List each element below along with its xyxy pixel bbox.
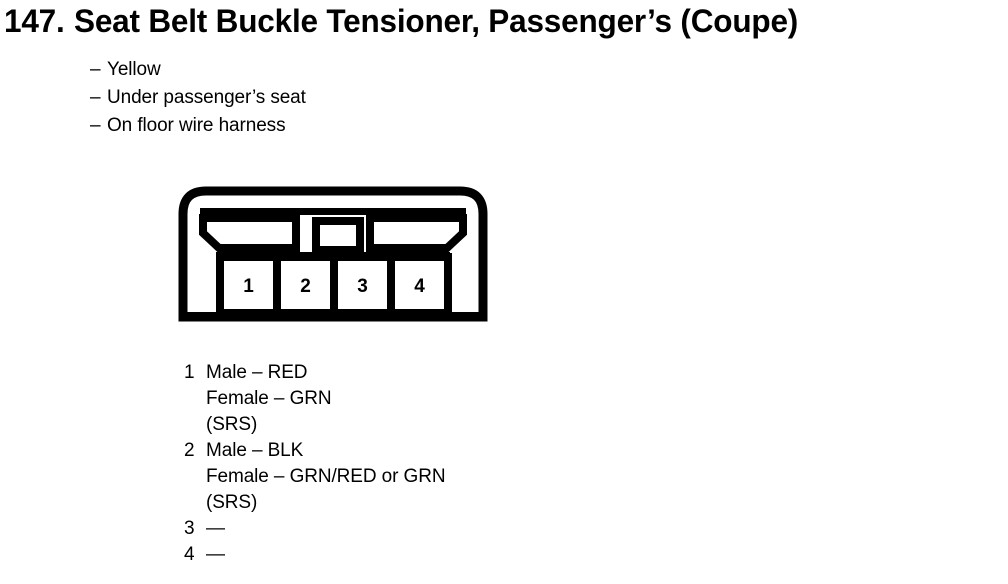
connector-slot-left	[203, 218, 296, 248]
pin-legend-line: (SRS)	[206, 412, 804, 438]
attribute-label: Under passenger’s seat	[107, 84, 306, 112]
pin-number-1: 1	[243, 276, 254, 297]
page-title: 147. Seat Belt Buckle Tensioner, Passeng…	[4, 3, 1004, 43]
list-item: – Yellow	[90, 56, 610, 84]
pin-legend-line: Male – RED	[206, 360, 804, 386]
connector-slot-right	[370, 218, 463, 248]
page-title-number: 147.	[4, 3, 65, 39]
pin-legend-number: 4	[184, 542, 206, 568]
connector-diagram: 1 2 3 4	[178, 186, 498, 326]
pin-legend: 1 Male – RED Female – GRN (SRS) 2 Male –…	[184, 360, 804, 568]
list-item: – On floor wire harness	[90, 112, 610, 140]
pin-legend-description: —	[206, 542, 804, 568]
pin-legend-line: (SRS)	[206, 490, 804, 516]
dash-bullet-icon: –	[90, 112, 107, 140]
pin-legend-entry: 2 Male – BLK Female – GRN/RED or GRN (SR…	[184, 438, 804, 516]
list-item: – Under passenger’s seat	[90, 84, 610, 112]
pin-legend-description: —	[206, 516, 804, 542]
connector-top-bar	[200, 208, 466, 215]
pin-legend-number: 3	[184, 516, 206, 542]
attribute-label: On floor wire harness	[107, 112, 285, 140]
pin-legend-entry: 1 Male – RED Female – GRN (SRS)	[184, 360, 804, 438]
pin-legend-line: —	[206, 542, 804, 568]
pin-legend-number: 1	[184, 360, 206, 386]
connector-bottom-bar	[183, 312, 483, 321]
pin-number-4: 4	[414, 276, 425, 297]
connector-center-key	[316, 221, 360, 250]
dash-bullet-icon: –	[90, 56, 107, 84]
pin-legend-line: Female – GRN/RED or GRN	[206, 464, 804, 490]
attributes-list: – Yellow – Under passenger’s seat – On f…	[90, 56, 610, 140]
pin-legend-entry: 3 —	[184, 516, 804, 542]
pin-legend-number: 2	[184, 438, 206, 464]
page-title-label: Seat Belt Buckle Tensioner, Passenger’s …	[74, 3, 798, 39]
pin-legend-line: —	[206, 516, 804, 542]
pin-number-2: 2	[300, 276, 311, 297]
attribute-label: Yellow	[107, 56, 161, 84]
pin-number-3: 3	[357, 276, 368, 297]
pin-legend-description: Male – RED Female – GRN (SRS)	[206, 360, 804, 438]
pin-legend-line: Male – BLK	[206, 438, 804, 464]
dash-bullet-icon: –	[90, 84, 107, 112]
pin-legend-description: Male – BLK Female – GRN/RED or GRN (SRS)	[206, 438, 804, 516]
pin-legend-line: Female – GRN	[206, 386, 804, 412]
pin-legend-entry: 4 —	[184, 542, 804, 568]
